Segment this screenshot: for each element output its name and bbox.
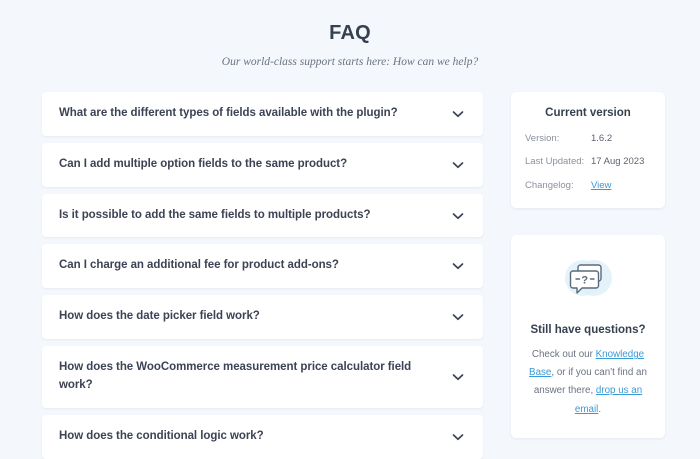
faq-accordion-item[interactable]: How does the date picker field work? [42, 295, 483, 339]
svg-text:?: ? [581, 274, 588, 286]
faq-question-label: How does the conditional logic work? [59, 428, 278, 446]
faq-question-label: Can I add multiple option fields to the … [59, 156, 361, 174]
faq-question-label: How does the WooCommerce measurement pri… [59, 359, 451, 395]
support-card: ? Still have questions? Check out our Kn… [511, 235, 665, 437]
chevron-down-icon[interactable] [451, 209, 465, 223]
question-speech-bubbles-icon: ? [561, 255, 615, 310]
changelog-value: View [591, 180, 611, 191]
page-header: FAQ Our world-class support starts here:… [0, 0, 700, 68]
changelog-view-link[interactable]: View [591, 180, 611, 191]
page-title: FAQ [0, 22, 700, 45]
faq-accordion-item[interactable]: Can I add multiple option fields to the … [42, 143, 483, 187]
faq-accordion-item[interactable]: How does the conditional logic work? [42, 415, 483, 459]
current-version-card: Current version Version: 1.6.2 Last Upda… [511, 92, 665, 208]
chevron-down-icon[interactable] [451, 370, 465, 384]
support-text: Check out our Knowledge Base, or if you … [524, 346, 652, 418]
last-updated-row: Last Updated: 17 Aug 2023 [525, 156, 651, 167]
last-updated-label: Last Updated: [525, 156, 591, 167]
changelog-row: Changelog: View [525, 180, 651, 191]
chevron-down-icon[interactable] [451, 310, 465, 324]
support-icon-wrapper: ? [524, 255, 652, 310]
version-value: 1.6.2 [591, 133, 612, 144]
changelog-label: Changelog: [525, 180, 591, 191]
current-version-title: Current version [525, 107, 651, 119]
faq-accordion-item[interactable]: Can I charge an additional fee for produ… [42, 244, 483, 288]
sidebar: Current version Version: 1.6.2 Last Upda… [511, 92, 665, 438]
chevron-down-icon[interactable] [451, 259, 465, 273]
faq-question-label: What are the different types of fields a… [59, 105, 412, 123]
faq-question-label: Is it possible to add the same fields to… [59, 207, 384, 225]
faq-question-label: How does the date picker field work? [59, 308, 274, 326]
faq-accordion-item[interactable]: What are the different types of fields a… [42, 92, 483, 136]
page-subtitle: Our world-class support starts here: How… [0, 56, 700, 68]
chevron-down-icon[interactable] [451, 430, 465, 444]
last-updated-value: 17 Aug 2023 [591, 156, 644, 167]
faq-accordion-item[interactable]: Is it possible to add the same fields to… [42, 194, 483, 238]
support-text-before: Check out our [532, 349, 596, 360]
faq-question-label: Can I charge an additional fee for produ… [59, 257, 353, 275]
support-text-after: . [598, 404, 601, 415]
version-label: Version: [525, 133, 591, 144]
chevron-down-icon[interactable] [451, 158, 465, 172]
faq-page: FAQ Our world-class support starts here:… [0, 0, 700, 459]
faq-accordion-list: What are the different types of fields a… [42, 92, 483, 459]
page-content: What are the different types of fields a… [0, 92, 700, 459]
version-row: Version: 1.6.2 [525, 133, 651, 144]
faq-accordion-item[interactable]: How does the WooCommerce measurement pri… [42, 346, 483, 408]
support-title: Still have questions? [524, 324, 652, 336]
chevron-down-icon[interactable] [451, 107, 465, 121]
